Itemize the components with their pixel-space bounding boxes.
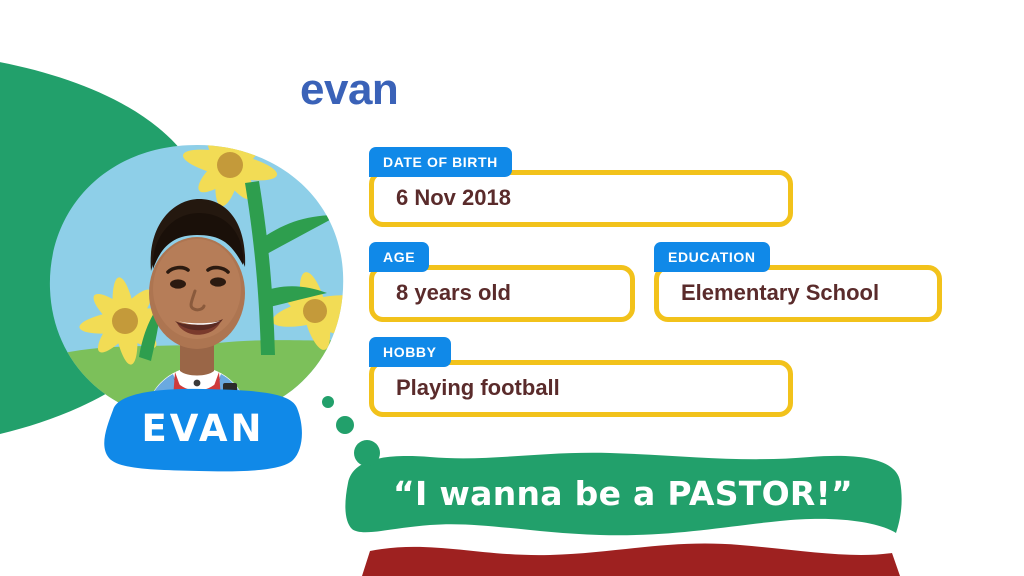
quote-text: “I wanna be a PASTOR!”: [340, 447, 906, 576]
info-card-education: EDUCATION Elementary School: [654, 242, 942, 322]
info-tab-label: DATE OF BIRTH: [369, 147, 512, 177]
info-value-age: 8 years old: [369, 265, 635, 322]
info-tab-label: AGE: [369, 242, 429, 272]
info-card-date-of-birth: DATE OF BIRTH 6 Nov 2018: [369, 147, 793, 227]
quote-banner: “I wanna be a PASTOR!”: [340, 447, 906, 576]
tail-dot-medium: [336, 416, 354, 434]
tail-dot-small: [322, 396, 334, 408]
tail-dot-large: [354, 440, 380, 466]
name-badge-label: EVAN: [95, 388, 311, 472]
speech-bubble-tail-dots: [310, 396, 380, 466]
info-tab-label: HOBBY: [369, 337, 451, 367]
info-card-age: AGE 8 years old: [369, 242, 635, 322]
profile-card-stage: evan DATE OF BIRTH 6 Nov 2018 AGE 8 year…: [0, 0, 1024, 576]
name-badge: EVAN: [95, 388, 311, 472]
info-value-education: Elementary School: [654, 265, 942, 322]
info-card-hobby: HOBBY Playing football: [369, 337, 793, 417]
info-value-hobby: Playing football: [369, 360, 793, 417]
info-value-date-of-birth: 6 Nov 2018: [369, 170, 793, 227]
info-tab-label: EDUCATION: [654, 242, 770, 272]
